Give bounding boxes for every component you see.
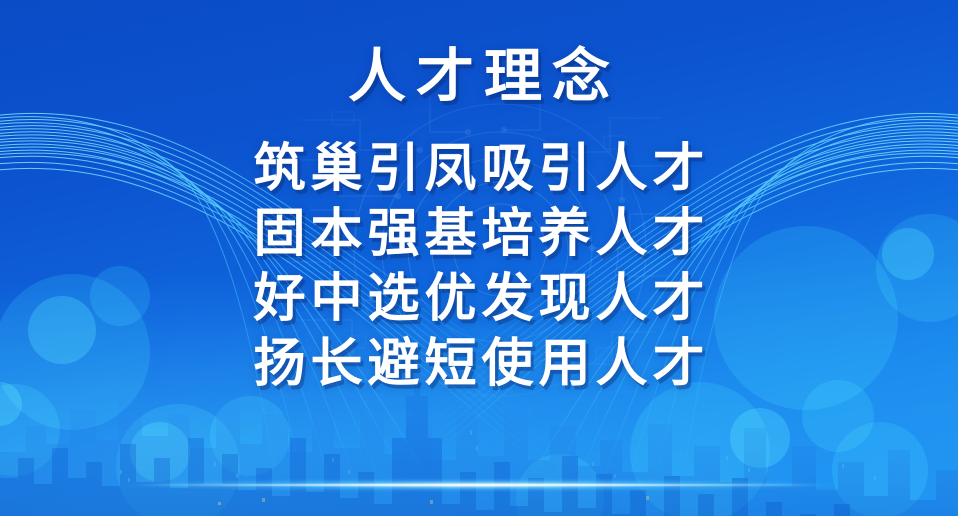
slogan-line-3: 好中选优发现人才 [248,272,709,326]
page-title: 人才理念 [338,48,620,106]
slogan-list: 筑巢引凤吸引人才 固本强基培养人才 好中选优发现人才 扬长避短使用人才 [248,142,709,391]
talent-philosophy-banner: 人才理念 筑巢引凤吸引人才 固本强基培养人才 好中选优发现人才 扬长避短使用人才 [0,0,958,516]
banner-content: 人才理念 筑巢引凤吸引人才 固本强基培养人才 好中选优发现人才 扬长避短使用人才 [0,0,958,516]
slogan-line-2: 固本强基培养人才 [248,207,709,261]
slogan-line-4: 扬长避短使用人才 [248,337,709,391]
slogan-line-1: 筑巢引凤吸引人才 [248,142,709,196]
